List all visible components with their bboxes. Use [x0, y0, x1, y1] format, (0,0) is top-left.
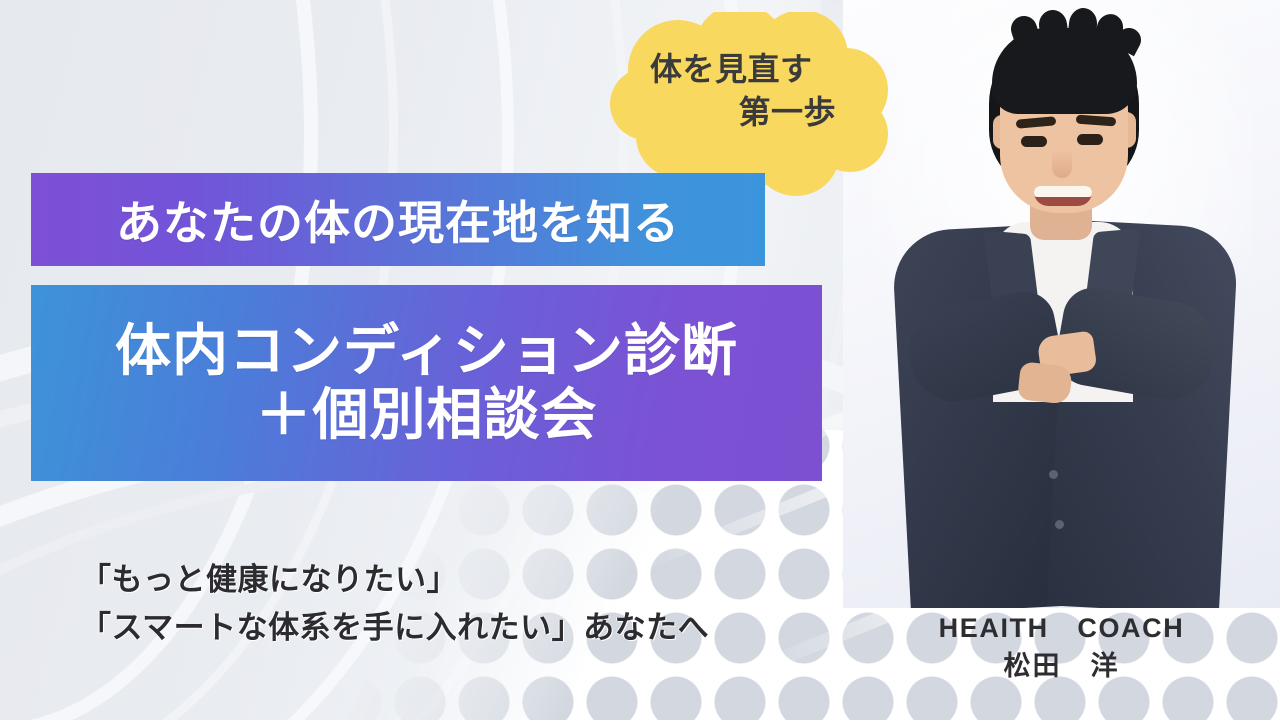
headline-text: あなたの体の現在地を知る: [116, 187, 680, 253]
subtext-line-2: 「スマートな体系を手に入れたい」あなたへ: [80, 604, 800, 652]
mouth: [1034, 186, 1092, 206]
nose: [1052, 150, 1072, 178]
speech-bubble-line-1: 体を見直す: [626, 48, 864, 91]
main-title-line-1: 体内コンディション診断: [115, 319, 738, 383]
main-title-bar: 体内コンディション診断 ＋個別相談会: [31, 285, 822, 481]
speech-bubble-line-2: 第一歩: [626, 91, 864, 134]
coach-name-label: 松田 洋: [843, 650, 1280, 684]
main-title-line-2: ＋個別相談会: [256, 383, 598, 447]
hand-right: [1017, 361, 1073, 404]
coach-caption: HEAITH COACH 松田 洋: [843, 612, 1280, 684]
coach-photo: [843, 0, 1280, 608]
subtext-block: 「もっと健康になりたい」 「スマートな体系を手に入れたい」あなたへ: [80, 556, 800, 652]
speech-bubble-text: 体を見直す 第一歩: [600, 12, 890, 152]
jacket-button: [1055, 520, 1064, 529]
teeth: [1034, 186, 1092, 197]
headline-bar: あなたの体の現在地を知る: [31, 173, 765, 266]
eye-left: [1021, 136, 1047, 147]
hair-spike: [1037, 8, 1069, 42]
subtext-line-1: 「もっと健康になりたい」: [80, 556, 800, 604]
jacket-button: [1049, 470, 1058, 479]
coach-role-label: HEAITH COACH: [843, 612, 1280, 646]
eye-right: [1077, 134, 1103, 145]
coach-portrait-figure: [843, 0, 1280, 608]
poster-canvas: 体を見直す 第一歩 あなたの体の現在地を知る 体内コンディション診断 ＋個別相談…: [0, 0, 1280, 720]
